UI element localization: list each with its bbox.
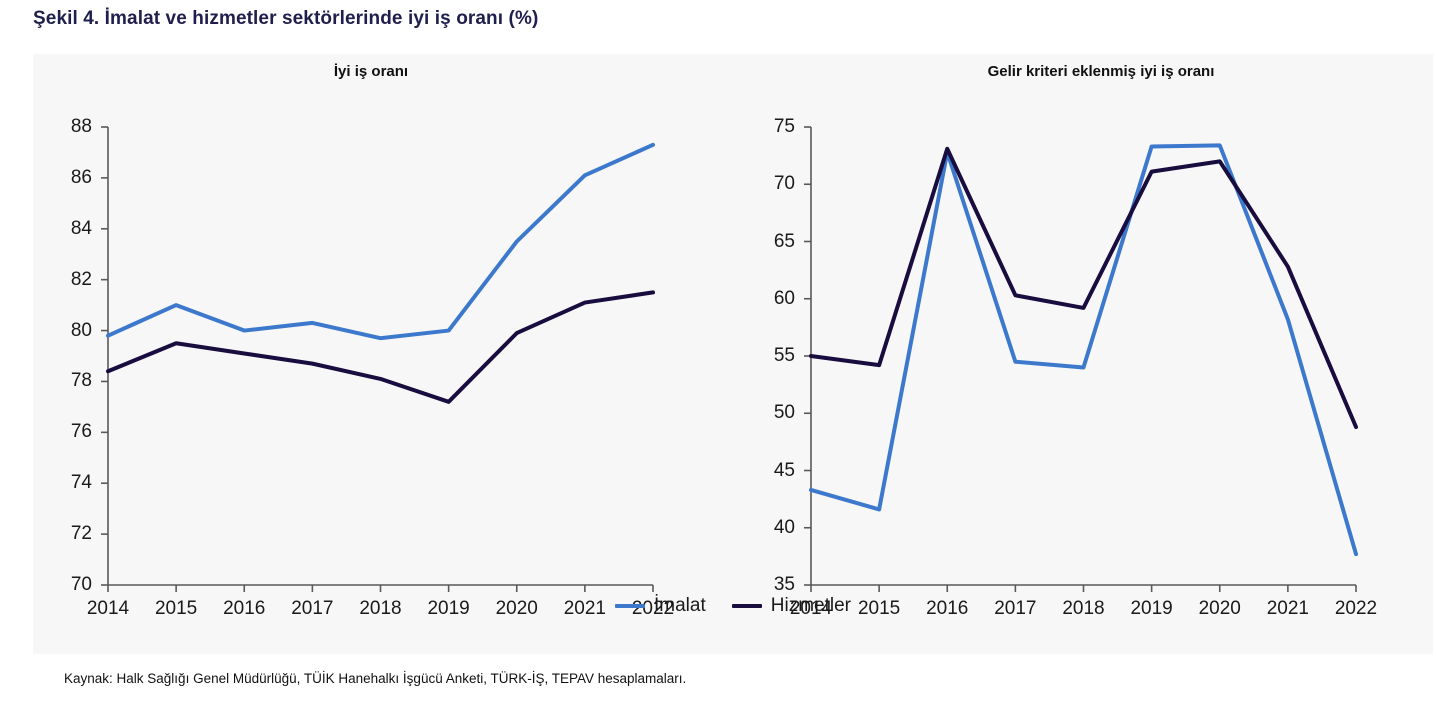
legend-label: İmalat xyxy=(654,595,706,617)
legend-swatch-icon xyxy=(732,604,762,608)
series-line-imalat xyxy=(811,145,1356,554)
y-axis-tick-label: 88 xyxy=(71,116,92,138)
y-axis-tick-label: 70 xyxy=(71,574,92,596)
y-axis-tick-label: 74 xyxy=(71,472,92,494)
charts-panel: İyi iş oranı 707274767880828486882014201… xyxy=(33,54,1433,654)
y-axis-tick-label: 80 xyxy=(71,320,92,342)
chart-svg xyxy=(108,127,655,587)
y-axis-tick-label: 60 xyxy=(774,288,795,310)
legend-label: Hizmetler xyxy=(771,595,851,617)
figure-title: Şekil 4. İmalat ve hizmetler sektörlerin… xyxy=(33,8,538,30)
y-axis-tick-label: 55 xyxy=(774,345,795,367)
y-axis-tick-label: 78 xyxy=(71,370,92,392)
y-axis-tick-label: 76 xyxy=(71,421,92,443)
plot-area-right: 3540455055606570752014201520162017201820… xyxy=(811,127,1356,585)
plot-area-left: 7072747678808284868820142015201620172018… xyxy=(108,127,653,585)
chart-right-title: Gelir kriteri eklenmiş iyi iş oranı xyxy=(751,63,1436,80)
y-axis-tick-label: 70 xyxy=(774,173,795,195)
y-axis-tick-label: 65 xyxy=(774,231,795,253)
chart-gelir-kriteri-eklenmis-iyi-is-orani: Gelir kriteri eklenmiş iyi iş oranı 3540… xyxy=(733,54,1433,654)
y-axis-tick-label: 84 xyxy=(71,218,92,240)
chart-left-title: İyi iş oranı xyxy=(21,63,721,80)
legend-item-imalat[interactable]: İmalat xyxy=(615,595,706,617)
y-axis-tick-label: 45 xyxy=(774,460,795,482)
y-axis-tick-label: 86 xyxy=(71,167,92,189)
y-axis-tick-label: 75 xyxy=(774,116,795,138)
y-axis-tick-label: 35 xyxy=(774,574,795,596)
figure-source: Kaynak: Halk Sağlığı Genel Müdürlüğü, TÜ… xyxy=(64,671,686,686)
chart-legend: İmalatHizmetler xyxy=(33,595,1433,617)
chart-svg xyxy=(811,127,1358,587)
legend-item-hizmetler[interactable]: Hizmetler xyxy=(732,595,851,617)
y-axis-tick-label: 82 xyxy=(71,269,92,291)
y-axis-tick-label: 50 xyxy=(774,402,795,424)
chart-iyi-is-orani: İyi iş oranı 707274767880828486882014201… xyxy=(33,54,733,654)
y-axis-tick-label: 40 xyxy=(774,517,795,539)
legend-swatch-icon xyxy=(615,604,645,608)
figure-root: Şekil 4. İmalat ve hizmetler sektörlerin… xyxy=(0,0,1436,706)
y-axis-tick-label: 72 xyxy=(71,523,92,545)
